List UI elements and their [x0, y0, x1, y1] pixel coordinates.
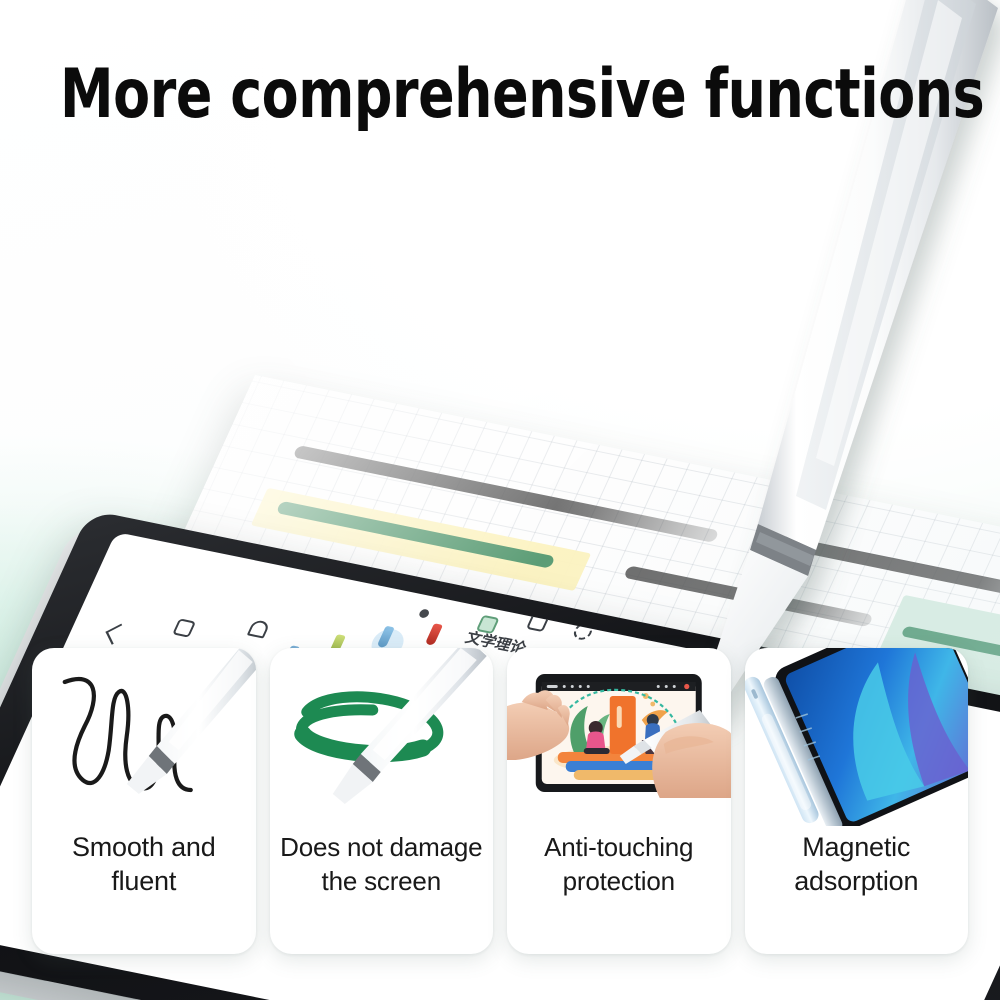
page-title: More comprehensive functions [60, 60, 940, 130]
feature-card[interactable]: Anti-touching protection [507, 648, 731, 954]
record-icon [684, 684, 689, 689]
stylus [119, 648, 256, 802]
feature-card[interactable]: Magnetic adsorption [745, 648, 969, 954]
table-icon[interactable] [172, 618, 196, 637]
stylus [326, 648, 486, 810]
product-feature-banner: 文学理论 ✕ ⋯ [0, 0, 1000, 1000]
front-camera-icon [418, 608, 431, 618]
feature-card[interactable]: Smooth and fluent [32, 648, 256, 954]
feature-card-label: Anti-touching protection [507, 826, 731, 954]
palm-rejection-illustration [507, 648, 731, 826]
feature-card[interactable]: Does not damage the screen [270, 648, 494, 954]
feature-card-label: Does not damage the screen [270, 826, 494, 954]
red-pen-icon[interactable] [425, 623, 443, 645]
hero-image: 文学理论 ✕ ⋯ [0, 150, 1000, 710]
no-screen-damage-illustration [270, 648, 494, 826]
feature-card-row: Smooth and fluent [0, 648, 1000, 954]
back-chevron-icon[interactable] [105, 624, 127, 645]
feature-card-label: Smooth and fluent [32, 826, 256, 954]
magnetic-attach-illustration [745, 648, 969, 826]
layers-icon[interactable] [247, 619, 271, 638]
smooth-writing-illustration [32, 648, 256, 826]
feature-card-label: Magnetic adsorption [745, 826, 969, 954]
